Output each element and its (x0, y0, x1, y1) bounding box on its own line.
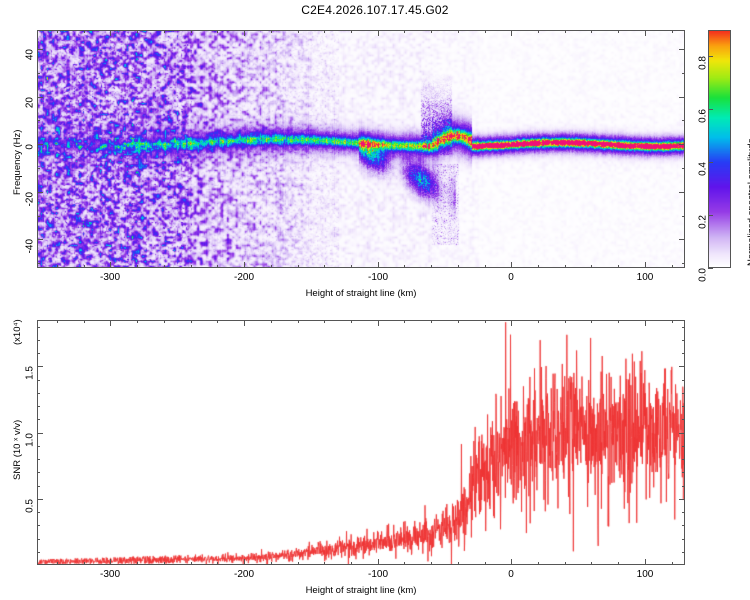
x-tick-label: 100 (637, 272, 654, 283)
tick-mark (672, 320, 673, 323)
tick-mark (191, 562, 192, 565)
tick-mark (591, 562, 592, 565)
tick-mark (37, 73, 40, 74)
tick-mark (137, 30, 138, 33)
tick-mark (244, 320, 245, 326)
tick-mark (682, 353, 685, 354)
tick-mark (37, 366, 43, 367)
tick-mark (682, 393, 685, 394)
x-tick-label: -300 (100, 569, 120, 580)
tick-mark (37, 499, 43, 500)
tick-mark (37, 168, 40, 169)
tick-mark (431, 30, 432, 33)
tick-mark (84, 265, 85, 268)
tick-mark (37, 97, 43, 98)
tick-mark (37, 525, 40, 526)
colorbar-gradient (709, 31, 730, 267)
tick-mark (244, 30, 245, 36)
tick-mark (37, 216, 40, 217)
colorbar (708, 30, 731, 268)
x-tick-label: 0 (508, 569, 514, 580)
tick-mark (37, 263, 40, 264)
colorbar-tick-mark (708, 109, 713, 110)
tick-mark (485, 562, 486, 565)
tick-mark (191, 320, 192, 323)
tick-mark (565, 320, 566, 323)
tick-mark (271, 30, 272, 33)
tick-mark (110, 262, 111, 268)
tick-mark (679, 433, 685, 434)
tick-mark (244, 262, 245, 268)
tick-mark (672, 265, 673, 268)
tick-mark (164, 320, 165, 323)
x-tick-label: -200 (234, 569, 254, 580)
tick-mark (298, 30, 299, 33)
tick-mark (485, 320, 486, 323)
tick-mark (682, 525, 685, 526)
tick-mark (37, 340, 40, 341)
tick-mark (618, 320, 619, 323)
tick-mark (271, 562, 272, 565)
tick-mark (110, 559, 111, 565)
tick-mark (37, 552, 40, 553)
tick-mark (37, 49, 43, 50)
tick-mark (618, 30, 619, 33)
tick-mark (404, 30, 405, 33)
tick-mark (618, 562, 619, 565)
tick-mark (110, 30, 111, 36)
tick-mark (37, 380, 40, 381)
tick-mark (458, 30, 459, 33)
tick-mark (298, 320, 299, 323)
tick-mark (682, 446, 685, 447)
y-tick-label: 20 (25, 97, 36, 108)
tick-mark (682, 459, 685, 460)
tick-mark (458, 265, 459, 268)
tick-mark (682, 539, 685, 540)
x-tick-label: 0 (508, 272, 514, 283)
tick-mark (431, 265, 432, 268)
tick-mark (404, 265, 405, 268)
tick-mark (404, 562, 405, 565)
figure-canvas: C2E4.2026.107.17.45.G02 -300-200-1000100… (0, 0, 750, 600)
tick-mark (682, 419, 685, 420)
tick-mark (37, 327, 40, 328)
tick-mark (137, 562, 138, 565)
y-tick-label: 0 (25, 144, 36, 150)
tick-mark (682, 486, 685, 487)
tick-mark (351, 562, 352, 565)
tick-mark (217, 265, 218, 268)
tick-mark (57, 265, 58, 268)
tick-mark (84, 30, 85, 33)
tick-mark (324, 562, 325, 565)
colorbar-tick-label: 0.0 (698, 268, 709, 282)
y-tick-label: 0.5 (25, 499, 36, 513)
tick-mark (682, 73, 685, 74)
tick-mark (645, 262, 646, 268)
figure-title: C2E4.2026.107.17.45.G02 (0, 3, 750, 17)
tick-mark (511, 559, 512, 565)
tick-mark (84, 320, 85, 323)
tick-mark (37, 144, 43, 145)
tick-mark (679, 499, 685, 500)
tick-mark (538, 30, 539, 33)
tick-mark (565, 265, 566, 268)
snr-y-axis-label: SNR (10 ˣ v/v) (12, 420, 23, 480)
colorbar-tick-label: 0.8 (698, 56, 709, 70)
spectrogram-plot-area (37, 30, 685, 268)
spectrogram-image (38, 31, 685, 268)
snr-line-series (38, 321, 685, 565)
tick-mark (679, 239, 685, 240)
y-tick-label: -40 (25, 239, 36, 253)
tick-mark (682, 263, 685, 264)
tick-mark (37, 393, 40, 394)
tick-mark (679, 49, 685, 50)
colorbar-tick-mark (708, 215, 713, 216)
tick-mark (511, 320, 512, 326)
tick-mark (37, 433, 43, 434)
tick-mark (682, 327, 685, 328)
x-tick-label: -300 (100, 272, 120, 283)
tick-mark (324, 265, 325, 268)
tick-mark (37, 406, 40, 407)
tick-mark (538, 562, 539, 565)
tick-mark (37, 120, 40, 121)
tick-mark (431, 320, 432, 323)
snr-plot-area (37, 320, 685, 565)
tick-mark (217, 562, 218, 565)
tick-mark (645, 30, 646, 36)
tick-mark (57, 320, 58, 323)
tick-mark (110, 320, 111, 326)
tick-mark (458, 320, 459, 323)
tick-mark (682, 216, 685, 217)
colorbar-tick-label: 0.2 (698, 215, 709, 229)
x-tick-label: 100 (637, 569, 654, 580)
tick-mark (618, 265, 619, 268)
tick-mark (351, 30, 352, 33)
tick-mark (682, 552, 685, 553)
tick-mark (378, 559, 379, 565)
tick-mark (672, 562, 673, 565)
tick-mark (682, 512, 685, 513)
y-tick-label: 40 (25, 49, 36, 60)
tick-mark (679, 192, 685, 193)
tick-mark (431, 562, 432, 565)
tick-mark (191, 30, 192, 33)
tick-mark (485, 265, 486, 268)
snr-x-axis-label: Height of straight line (km) (37, 585, 685, 596)
tick-mark (324, 320, 325, 323)
tick-mark (378, 262, 379, 268)
tick-mark (351, 320, 352, 323)
x-tick-label: -100 (368, 569, 388, 580)
snr-y-exponent-label: (x10⁴) (12, 319, 23, 345)
tick-mark (191, 265, 192, 268)
tick-mark (37, 446, 40, 447)
tick-mark (137, 320, 138, 323)
tick-mark (682, 406, 685, 407)
tick-mark (244, 559, 245, 565)
tick-mark (679, 97, 685, 98)
tick-mark (511, 262, 512, 268)
tick-mark (37, 512, 40, 513)
colorbar-tick-mark (708, 56, 713, 57)
tick-mark (565, 562, 566, 565)
tick-mark (591, 30, 592, 33)
tick-mark (57, 562, 58, 565)
tick-mark (271, 320, 272, 323)
tick-mark (37, 239, 43, 240)
tick-mark (37, 539, 40, 540)
tick-mark (164, 562, 165, 565)
tick-mark (37, 472, 40, 473)
tick-mark (591, 320, 592, 323)
tick-mark (378, 320, 379, 326)
tick-mark (682, 380, 685, 381)
colorbar-tick-mark (708, 268, 713, 269)
tick-mark (298, 265, 299, 268)
tick-mark (682, 472, 685, 473)
tick-mark (682, 168, 685, 169)
tick-mark (645, 320, 646, 326)
tick-mark (57, 30, 58, 33)
tick-mark (511, 30, 512, 36)
colorbar-tick-label: 0.4 (698, 162, 709, 176)
tick-mark (679, 144, 685, 145)
tick-mark (37, 459, 40, 460)
tick-mark (485, 30, 486, 33)
tick-mark (37, 192, 43, 193)
tick-mark (271, 265, 272, 268)
tick-mark (217, 30, 218, 33)
tick-mark (37, 353, 40, 354)
x-tick-label: -100 (368, 272, 388, 283)
tick-mark (217, 320, 218, 323)
spectrogram-x-axis-label: Height of straight line (km) (37, 288, 685, 299)
tick-mark (565, 30, 566, 33)
colorbar-tick-mark (708, 162, 713, 163)
tick-mark (324, 30, 325, 33)
tick-mark (645, 559, 646, 565)
tick-mark (682, 120, 685, 121)
tick-mark (682, 340, 685, 341)
tick-mark (164, 265, 165, 268)
tick-mark (37, 486, 40, 487)
tick-mark (538, 265, 539, 268)
x-tick-label: -200 (234, 272, 254, 283)
tick-mark (37, 419, 40, 420)
tick-mark (164, 30, 165, 33)
y-tick-label: 1.0 (25, 433, 36, 447)
tick-mark (458, 562, 459, 565)
tick-mark (672, 30, 673, 33)
tick-mark (351, 265, 352, 268)
tick-mark (679, 366, 685, 367)
tick-mark (404, 320, 405, 323)
tick-mark (538, 320, 539, 323)
spectrogram-y-axis-label: Frequency (Hz) (12, 130, 23, 195)
colorbar-title: Normalized spectral amplitude (746, 138, 750, 266)
y-tick-label: -20 (25, 192, 36, 206)
tick-mark (378, 30, 379, 36)
tick-mark (298, 562, 299, 565)
y-tick-label: 1.5 (25, 366, 36, 380)
tick-mark (591, 265, 592, 268)
tick-mark (84, 562, 85, 565)
tick-mark (137, 265, 138, 268)
colorbar-tick-label: 0.6 (698, 109, 709, 123)
